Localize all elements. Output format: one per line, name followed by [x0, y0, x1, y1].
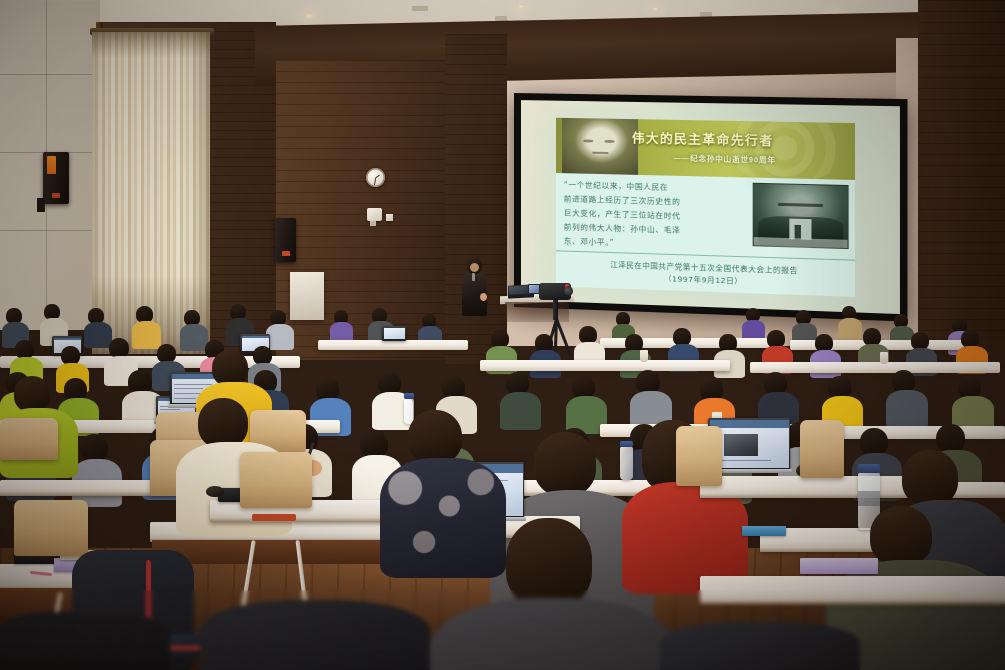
head [212, 350, 248, 386]
camera-lens [564, 286, 573, 296]
audience-member-foreground [660, 622, 860, 670]
photo-desk [754, 238, 848, 248]
student-chair[interactable] [240, 452, 312, 508]
shoe-stripe [168, 646, 204, 650]
dark-wood-wall-panel [918, 0, 1005, 340]
presenter-face [470, 263, 479, 272]
bottle-label [858, 491, 880, 506]
handheld-microphone [472, 273, 475, 281]
torso [132, 321, 161, 349]
audience-member-foreground [200, 600, 430, 670]
stone-seam [0, 74, 100, 75]
caption-line: （1997年9月12日） [664, 273, 742, 287]
head [534, 432, 596, 496]
audience [0, 300, 1005, 670]
head [870, 506, 932, 566]
head [936, 424, 965, 453]
computer-mouse[interactable] [206, 486, 224, 497]
bottle-cap [858, 464, 880, 473]
audience-member-foreground [0, 612, 170, 670]
wall-clock [366, 168, 385, 187]
paper-cup[interactable] [640, 350, 648, 362]
laptop-text-line [160, 409, 180, 410]
laptop-screen [384, 328, 405, 340]
slide-quote-text: “一个世纪以来，中国人民在 前进道路上经历了三次历史性的 巨大变化，产生了三位站… [564, 178, 753, 254]
wall-control-panel[interactable] [367, 208, 382, 221]
wall-sensor [386, 214, 393, 221]
torso [838, 318, 862, 342]
recessed-downlight [651, 6, 660, 12]
portrait-eye [604, 140, 615, 143]
curtain-shadow [92, 32, 210, 58]
paper-cup[interactable] [880, 352, 888, 364]
desk-edge [700, 600, 1005, 604]
desk-edge [700, 494, 940, 498]
portrait-mouth [592, 152, 609, 155]
speaker-bracket [37, 198, 45, 212]
notebook[interactable] [742, 526, 786, 536]
slide-title: 伟大的民主革命先行者 [632, 127, 818, 150]
sun-yat-sen-portrait [562, 118, 638, 175]
speaker-logo [282, 251, 290, 256]
head [860, 428, 888, 456]
slide-subtitle: ——纪念孙中山逝世90周年 [673, 152, 848, 167]
slide-banner: 伟大的民主革命先行者 ——纪念孙中山逝世90周年 [556, 118, 855, 180]
head [506, 518, 592, 608]
torso [266, 324, 294, 350]
torso [380, 458, 506, 578]
portrait-eye [583, 139, 594, 142]
torso [886, 390, 928, 428]
head [360, 430, 388, 458]
stone-seam [0, 230, 100, 231]
student-desk [318, 340, 468, 350]
head [109, 338, 129, 358]
torso [500, 392, 541, 430]
student-desk [700, 576, 1005, 604]
laptop-text-line [174, 398, 196, 399]
student-desk [820, 426, 1005, 439]
ceiling-vent [412, 6, 428, 11]
wall-control-stub [370, 221, 376, 226]
wall-speaker [275, 218, 296, 262]
bottle-cap [620, 441, 633, 447]
laptop-text-line [714, 460, 771, 461]
torso [180, 324, 208, 351]
torso [84, 322, 112, 348]
notebook[interactable] [800, 558, 878, 574]
laptop-titlebar [242, 336, 269, 339]
lecture-hall-photograph: 伟大的民主革命先行者 ——纪念孙中山逝世90周年 “一个世纪以来，中国人民在 前… [0, 0, 1005, 670]
photo-glasses [778, 203, 823, 208]
student-desk [750, 362, 1000, 373]
projection-screen-surface: 伟大的民主革命先行者 ——纪念孙中山逝世90周年 “一个世纪以来，中国人民在 前… [521, 100, 900, 314]
wall-speaker [43, 152, 69, 204]
laptop-text-line [174, 388, 202, 389]
head [408, 410, 462, 464]
speaker-logo [52, 193, 60, 198]
head [198, 398, 248, 448]
chair-frame [252, 514, 296, 521]
laptop-titlebar [54, 338, 81, 341]
student-chair[interactable] [676, 426, 722, 486]
water-bottle[interactable] [620, 446, 633, 480]
laptop-image-thumb [724, 434, 759, 456]
recessed-downlight [517, 4, 525, 9]
camera-lcd-screen [528, 284, 540, 294]
projected-slide: 伟大的民主革命先行者 ——纪念孙中山逝世90周年 “一个世纪以来，中国人民在 前… [556, 118, 855, 297]
head [902, 450, 958, 506]
recessed-downlight [303, 12, 316, 20]
clock-minute-hand [373, 178, 375, 185]
speaker-brand-label [47, 156, 56, 174]
student-chair[interactable] [0, 418, 58, 460]
student-desk [480, 360, 730, 371]
head [14, 376, 50, 412]
student-chair[interactable] [14, 500, 88, 556]
laptop-titlebar [710, 420, 789, 429]
jiang-zemin-photo [753, 183, 849, 249]
laptop-text-line [174, 384, 211, 385]
student-chair[interactable] [800, 420, 844, 478]
head [80, 434, 108, 462]
student-laptop[interactable] [382, 326, 406, 341]
bottle-cap [404, 393, 414, 399]
slide-body: “一个世纪以来，中国人民在 前进道路上经历了三次历史性的 巨大变化，产生了三位站… [556, 173, 855, 261]
